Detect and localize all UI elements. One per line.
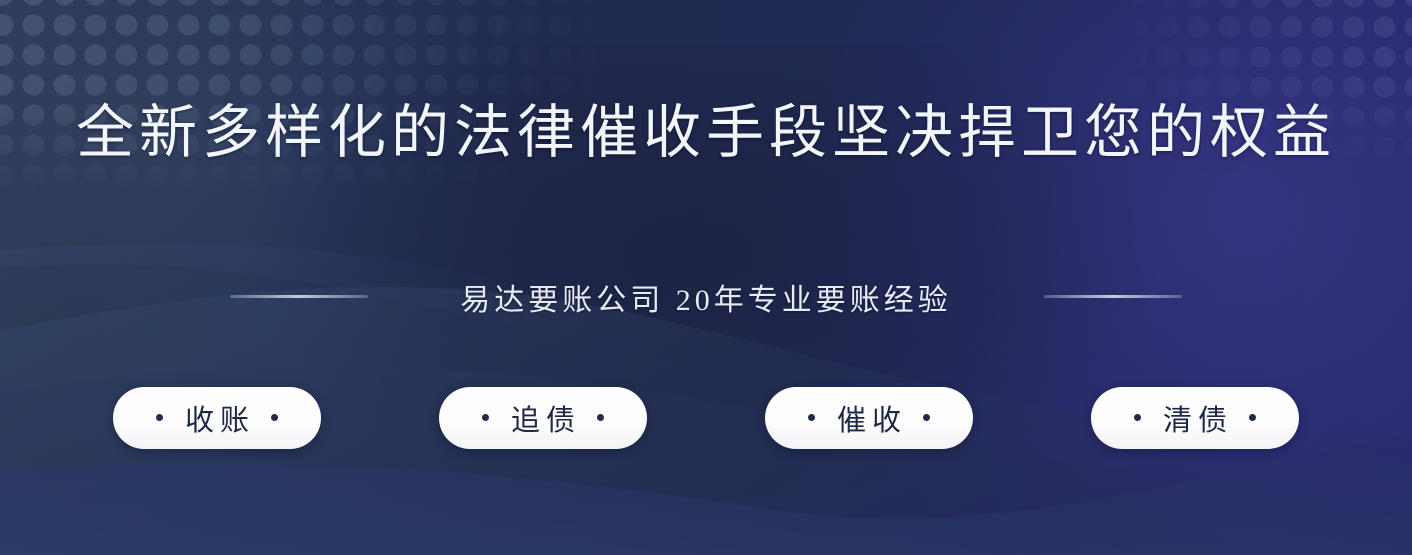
service-pill-group: 收账 追债 催收 清债 bbox=[113, 387, 1299, 449]
bullet-dot-icon bbox=[1134, 414, 1141, 421]
bullet-dot-icon bbox=[156, 414, 163, 421]
service-pill-label: 催收 bbox=[831, 397, 907, 439]
divider-rule-right bbox=[1044, 295, 1182, 298]
banner-headline: 全新多样化的法律催收手段坚决捍卫您的权益 bbox=[76, 104, 1336, 162]
service-pill-shouzhang[interactable]: 收账 bbox=[113, 387, 321, 449]
bullet-dot-icon bbox=[597, 414, 604, 421]
service-pill-label: 追债 bbox=[505, 397, 581, 439]
service-pill-label: 清债 bbox=[1157, 397, 1233, 439]
banner-subtitle-row: 易达要账公司 20年专业要账经验 bbox=[230, 275, 1182, 319]
service-pill-zhuizhai[interactable]: 追债 bbox=[439, 387, 647, 449]
bullet-dot-icon bbox=[808, 414, 815, 421]
banner-subtitle: 易达要账公司 20年专业要账经验 bbox=[460, 275, 952, 319]
bullet-dot-icon bbox=[271, 414, 278, 421]
bullet-dot-icon bbox=[923, 414, 930, 421]
promo-banner: 全新多样化的法律催收手段坚决捍卫您的权益 易达要账公司 20年专业要账经验 收账… bbox=[0, 0, 1412, 555]
divider-rule-left bbox=[230, 295, 368, 298]
service-pill-qingzhai[interactable]: 清债 bbox=[1091, 387, 1299, 449]
bullet-dot-icon bbox=[1249, 414, 1256, 421]
banner-content: 全新多样化的法律催收手段坚决捍卫您的权益 易达要账公司 20年专业要账经验 收账… bbox=[0, 0, 1412, 555]
service-pill-cuishou[interactable]: 催收 bbox=[765, 387, 973, 449]
service-pill-label: 收账 bbox=[179, 397, 255, 439]
bullet-dot-icon bbox=[482, 414, 489, 421]
